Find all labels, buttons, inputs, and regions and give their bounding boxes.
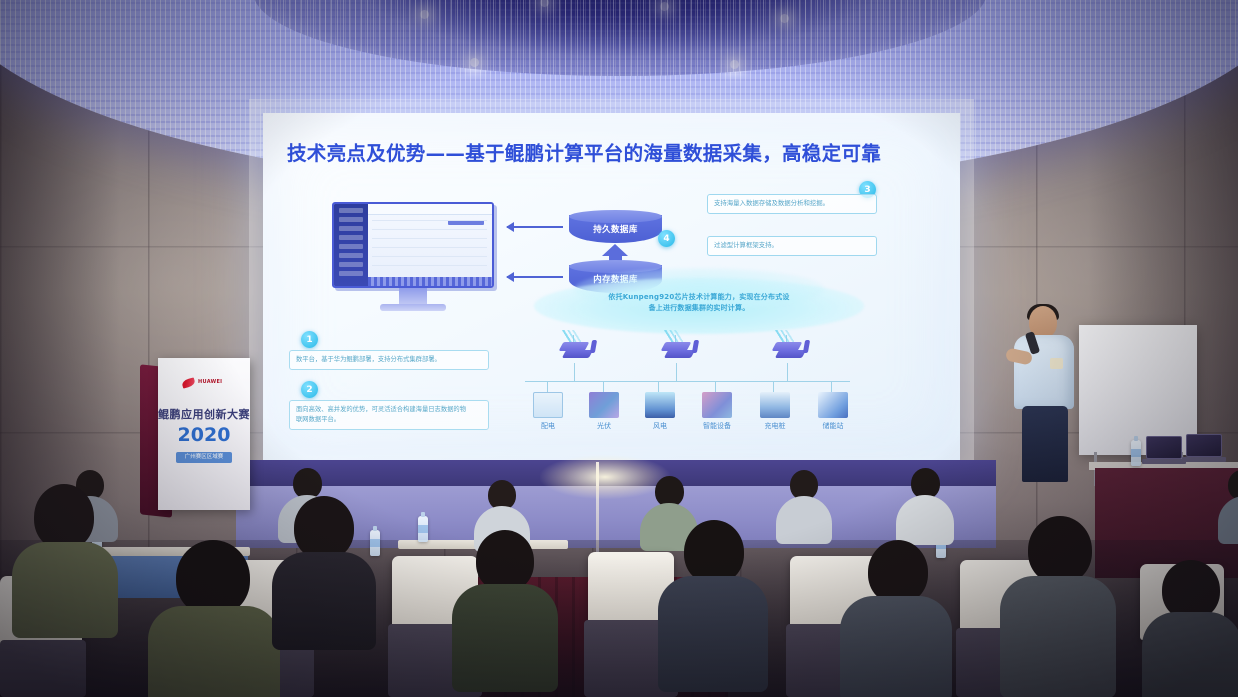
conference-room-photo: 技术亮点及优势——基于鲲鹏计算平台的海量数据采集，高稳定可靠 持久数据库: [0, 0, 1238, 697]
audience-person-front-1: [12, 484, 118, 634]
dashboard-monitor-mock: [332, 202, 494, 288]
monitor-topbar: [368, 204, 492, 215]
audience-body: [272, 552, 376, 650]
audience-person-front-6: [840, 540, 952, 697]
banner-year: 2020: [158, 424, 250, 446]
presenter-pants: [1022, 406, 1068, 482]
presenter-shirt: [1014, 335, 1074, 409]
audience-head: [476, 530, 534, 592]
audience-person-front-3: [272, 496, 376, 646]
laptop-2: [1186, 434, 1222, 462]
edge-gateway-3: [774, 342, 808, 362]
audience-head: [294, 496, 354, 560]
callout-text-4: 过滤型计算框架支持。: [707, 236, 877, 256]
edge-gateway-1: [561, 342, 595, 362]
water-bottle-tech-table: [1131, 440, 1141, 466]
cloud-text-line1: 依托Kunpeng920芯片技术计算能力，实现在分布式设: [534, 292, 864, 304]
audience-head: [1162, 560, 1220, 620]
callout-badge-4: 4: [658, 230, 675, 247]
device-item-4: 充电桩: [759, 392, 791, 431]
slide-title: 技术亮点及优势——基于鲲鹏计算平台的海量数据采集，高稳定可靠: [287, 137, 947, 166]
huawei-logo-mark: [181, 377, 196, 388]
audience-body: [1000, 576, 1116, 697]
event-banner: HUAWEI 鲲鹏应用创新大赛 2020 广州赛区区域赛: [158, 358, 250, 510]
audience-body: [1218, 496, 1238, 544]
gateway-drop-2: [676, 363, 677, 381]
banner-subtitle: 广州赛区区域赛: [176, 452, 232, 463]
audience-person-front-2: [148, 540, 280, 697]
monitor-base: [380, 304, 446, 311]
audience-person-front-8: [1142, 560, 1238, 697]
device-icon-energy-storage: [818, 392, 848, 418]
monitor-table-rows: [372, 220, 487, 274]
audience-person-front-5: [658, 520, 768, 690]
device-label-3: 智能设备: [701, 421, 733, 431]
audience-body: [896, 495, 954, 545]
banner-title: 鲲鹏应用创新大赛: [158, 406, 250, 422]
device-bus-line: [525, 381, 850, 382]
huawei-wordmark: HUAWEI: [198, 379, 222, 385]
audience-body: [148, 606, 280, 697]
device-label-0: 配电: [532, 421, 564, 431]
device-item-2: 风电: [644, 392, 676, 431]
audience-head: [176, 540, 250, 616]
device-label-2: 风电: [644, 421, 676, 431]
audience-person-front-7: [1000, 516, 1116, 696]
gateway-drop-3: [787, 363, 788, 381]
huawei-logo: HUAWEI: [182, 378, 228, 388]
device-label-1: 光伏: [588, 421, 620, 431]
chair-frame-1: [0, 640, 86, 697]
presenter: [1002, 306, 1088, 482]
monitor-chart-bar: [368, 277, 492, 286]
device-icon-photovoltaic: [589, 392, 619, 418]
audience-head: [868, 540, 928, 604]
water-bottle-2: [418, 516, 428, 542]
audience-head: [1028, 516, 1092, 584]
device-label-4: 充电桩: [759, 421, 791, 431]
arrow-persistent-to-monitor: [507, 226, 563, 228]
audience-body: [840, 596, 952, 697]
device-item-0: 配电: [532, 392, 564, 431]
audience-body: [452, 584, 558, 692]
laptop-1: [1146, 436, 1182, 464]
device-icon-distribution: [533, 392, 563, 418]
audience-body: [1142, 612, 1238, 697]
note-badge-2: 2: [301, 381, 318, 398]
database-persistent: 持久数据库: [569, 210, 662, 243]
audience-body: [658, 576, 768, 692]
device-icon-wind: [645, 392, 675, 418]
callout-text-3: 支持海量入数据存储及数据分析和挖掘。: [707, 194, 877, 214]
audience-head: [684, 520, 744, 584]
audience-person-front-4: [452, 530, 558, 690]
gateway-drop-1: [574, 363, 575, 381]
device-icon-charging-pile: [760, 392, 790, 418]
database-persistent-label: 持久数据库: [569, 223, 662, 235]
note-text-2: 面向高效、高并发的优势，可灵活适合构建海量日志数据的物 联网数据平台。: [289, 400, 489, 430]
note-text-1: 数平台，基于华为鲲鹏部署，支持分布式集群部署。: [289, 350, 489, 370]
audience-body: [12, 542, 118, 638]
device-item-1: 光伏: [588, 392, 620, 431]
audience-person-back-5: [776, 470, 832, 542]
presenter-badge: [1050, 358, 1063, 369]
audience-person-back-6: [896, 468, 954, 542]
kunpeng-compute-cloud: 依托Kunpeng920芯片技术计算能力，实现在分布式设 备上进行数据集群的实时…: [534, 278, 864, 334]
note-badge-1: 1: [301, 331, 318, 348]
monitor-sidebar: [334, 204, 368, 286]
device-item-5: 储能站: [817, 392, 849, 431]
audience-head: [1228, 470, 1238, 500]
projection-screen: 技术亮点及优势——基于鲲鹏计算平台的海量数据采集，高稳定可靠 持久数据库: [263, 113, 960, 460]
monitor-neck: [399, 288, 427, 305]
edge-gateway-2: [663, 342, 697, 362]
device-item-3: 智能设备: [701, 392, 733, 431]
cloud-text-line2: 备上进行数据集群的实时计算。: [534, 303, 864, 315]
audience-head: [34, 484, 94, 550]
device-label-5: 储能站: [817, 421, 849, 431]
audience-body: [776, 496, 832, 544]
device-icon-smart-equipment: [702, 392, 732, 418]
audience-person-back-7: [1218, 470, 1238, 542]
